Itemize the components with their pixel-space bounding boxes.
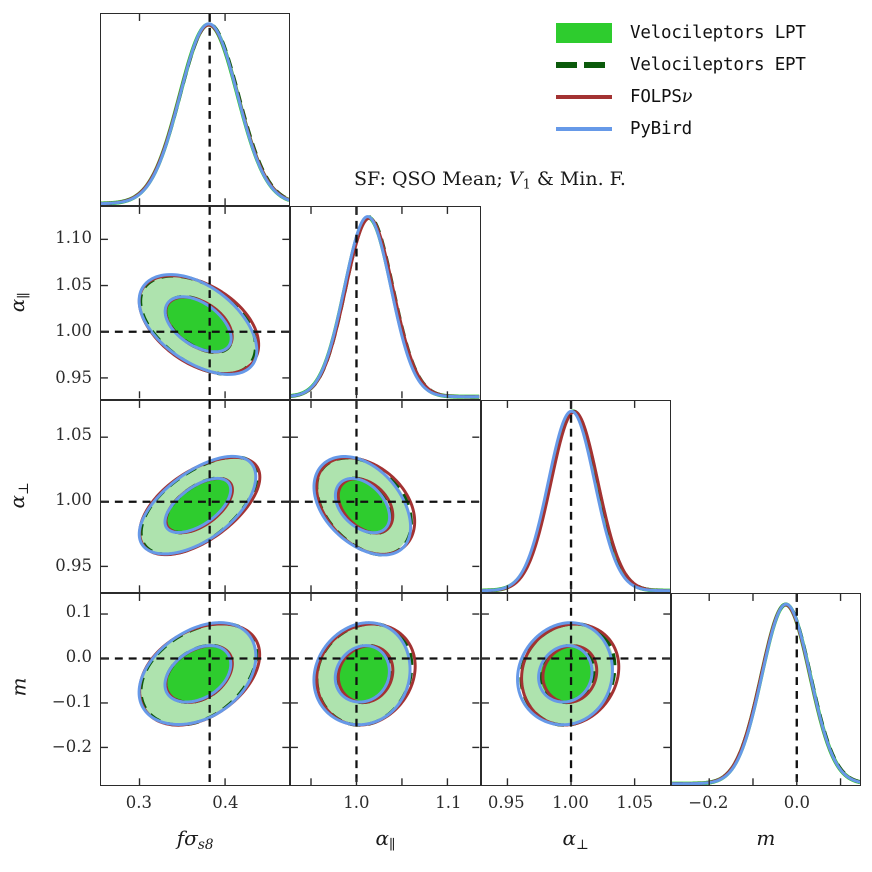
panel-contour-alpha_par-vs-alpha_perp <box>290 400 480 593</box>
x-tick-label: 1.1 <box>420 793 476 812</box>
panel-marginal-alpha_perp <box>481 400 671 593</box>
x-tick-label: −0.2 <box>680 793 736 812</box>
legend-label: PyBird <box>630 119 692 139</box>
y-axis-label-m: m <box>7 591 31 784</box>
x-tick-label: 1.0 <box>328 793 384 812</box>
panel-contour-alpha_par-vs-m <box>290 593 480 786</box>
legend-item-velocileptors-lpt[interactable]: Velocileptors LPT <box>556 18 866 47</box>
legend-swatch-filled <box>556 23 612 43</box>
x-tick-label: 1.05 <box>607 793 663 812</box>
legend: Velocileptors LPT Velocileptors EPT FOLP… <box>556 18 866 146</box>
x-axis-label-alpha-par: α∥ <box>290 826 480 853</box>
legend-swatch-dashed <box>556 55 612 75</box>
x-axis-label-fs8: fσs8 <box>100 826 290 853</box>
panel-contour-alpha_perp-vs-m <box>481 593 671 786</box>
legend-label: Velocileptors EPT <box>630 55 806 75</box>
x-axis-label-m: m <box>671 826 861 850</box>
panel-contour-fs8-vs-m <box>100 593 290 786</box>
panel-contour-fs8-vs-alpha_par <box>100 206 290 399</box>
x-tick-label: 0.0 <box>769 793 825 812</box>
legend-item-velocileptors-ept[interactable]: Velocileptors EPT <box>556 50 866 79</box>
panel-marginal-fs8 <box>100 13 290 206</box>
page-title: SF: QSO Mean; V1 & Min. F. <box>354 168 626 193</box>
x-tick-label: 0.4 <box>197 793 253 812</box>
legend-swatch-solid <box>556 119 612 139</box>
panel-marginal-alpha_par <box>290 206 480 399</box>
x-tick-label: 0.3 <box>111 793 167 812</box>
y-axis-label-alpha-par: α∥ <box>6 206 33 399</box>
corner-plot-figure: Velocileptors LPT Velocileptors EPT FOLP… <box>0 0 872 872</box>
legend-item-pybird[interactable]: PyBird <box>556 114 866 143</box>
legend-item-folps[interactable]: FOLPSν <box>556 82 866 111</box>
panel-marginal-m <box>671 593 861 786</box>
x-axis-label-alpha-perp: α⊥ <box>481 826 671 853</box>
panel-contour-fs8-vs-alpha_perp <box>100 400 290 593</box>
legend-swatch-solid <box>556 87 612 107</box>
x-tick-label: 0.95 <box>478 793 534 812</box>
y-axis-label-alpha-perp: α⊥ <box>6 399 33 592</box>
legend-label: FOLPSν <box>630 87 692 107</box>
x-tick-label: 1.00 <box>542 793 598 812</box>
legend-label: Velocileptors LPT <box>630 23 806 43</box>
